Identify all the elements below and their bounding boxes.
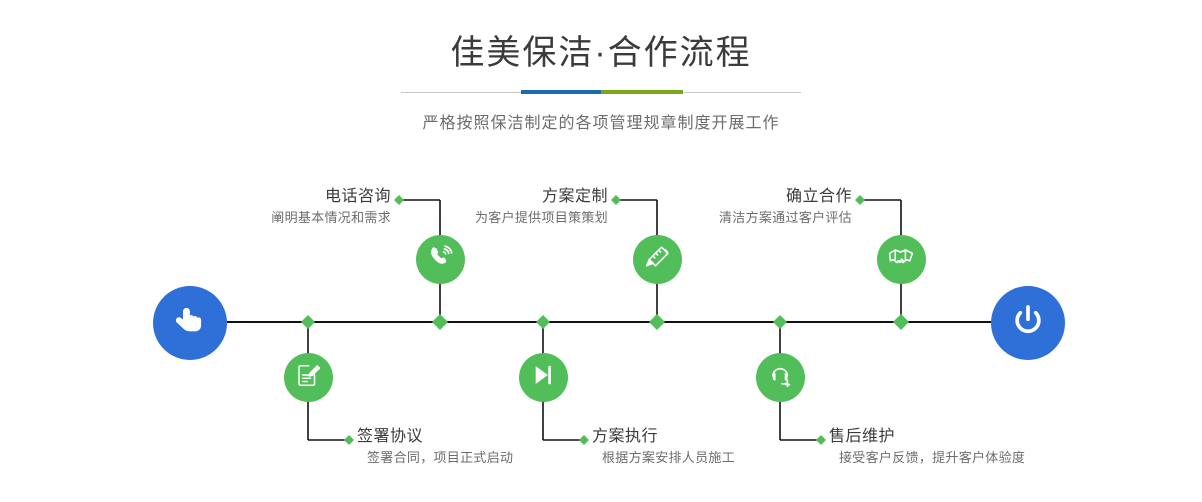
- label-diamond: [816, 435, 826, 445]
- pencil-ruler-icon: [644, 244, 671, 276]
- step-title: 电话咨询: [219, 186, 391, 208]
- step-node-phone-consult[interactable]: [416, 235, 465, 284]
- step-label-plan-execute: 方案执行 根据方案安排人员施工: [592, 426, 802, 468]
- cooperation-process-infographic: 佳美保洁·合作流程 严格按照保洁制定的各项管理规章制度开展工作: [0, 0, 1202, 502]
- phone-call-icon: [427, 244, 454, 276]
- spine-diamond: [301, 315, 315, 329]
- label-diamond-group: [344, 195, 865, 445]
- step-title: 签署协议: [357, 426, 567, 448]
- spine-diamond: [536, 315, 550, 329]
- step-node-plan-execute[interactable]: [519, 353, 568, 402]
- step-title: 确立合作: [680, 186, 852, 208]
- flow-end-endpoint[interactable]: [991, 286, 1065, 360]
- step-label-sign-agreement: 签署协议 签署合同，项目正式启动: [357, 426, 567, 468]
- step-desc: 清洁方案通过客户评估: [680, 208, 852, 228]
- step-title: 售后维护: [829, 426, 1079, 448]
- step-node-after-sales[interactable]: [756, 353, 805, 402]
- label-diamond: [579, 435, 589, 445]
- step-desc: 阐明基本情况和需求: [219, 208, 391, 228]
- step-title: 方案执行: [592, 426, 802, 448]
- pointing-hand-icon: [169, 300, 211, 347]
- process-flow-diagram: 电话咨询 阐明基本情况和需求 方案定制 为客户提供项目策策划 确立合作 清洁方案…: [0, 0, 1202, 502]
- step-label-establish-cooperation: 确立合作 清洁方案通过客户评估: [680, 186, 852, 228]
- step-label-after-sales: 售后维护 接受客户反馈，提升客户体验度: [829, 426, 1079, 468]
- step-node-plan-customize[interactable]: [633, 235, 682, 284]
- spine-diamond: [649, 314, 665, 330]
- step-desc: 接受客户反馈，提升客户体验度: [829, 448, 1079, 468]
- document-edit-icon: [295, 362, 321, 393]
- step-node-sign-agreement[interactable]: [284, 353, 333, 402]
- play-step-icon: [530, 362, 556, 393]
- label-diamond: [394, 195, 404, 205]
- headset-add-icon: [767, 362, 794, 394]
- step-title: 方案定制: [436, 186, 608, 208]
- spine-diamond: [773, 315, 787, 329]
- label-diamond: [855, 195, 865, 205]
- label-diamond: [344, 435, 354, 445]
- power-icon: [1007, 300, 1049, 347]
- step-desc: 签署合同，项目正式启动: [357, 448, 567, 468]
- handshake-icon: [887, 243, 915, 276]
- flow-start-endpoint[interactable]: [153, 286, 227, 360]
- step-label-plan-customize: 方案定制 为客户提供项目策策划: [436, 186, 608, 228]
- step-label-phone-consult: 电话咨询 阐明基本情况和需求: [219, 186, 391, 228]
- spine-diamond: [432, 314, 448, 330]
- label-diamond: [611, 195, 621, 205]
- spine-diamond: [893, 314, 909, 330]
- step-desc: 根据方案安排人员施工: [592, 448, 802, 468]
- step-node-establish-cooperation[interactable]: [877, 235, 926, 284]
- step-desc: 为客户提供项目策策划: [436, 208, 608, 228]
